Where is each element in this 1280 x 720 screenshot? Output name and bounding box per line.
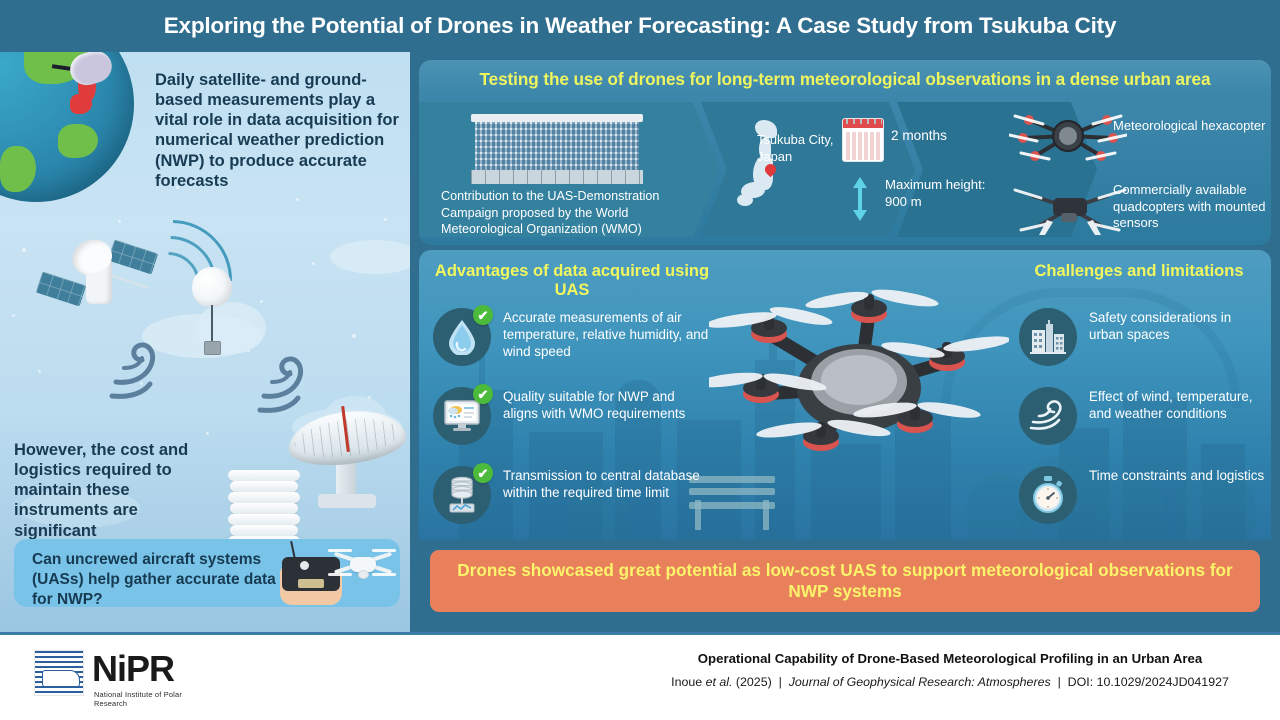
footer: NiPR National Institute of Polar Researc…	[0, 632, 1280, 720]
authors-italic: et al.	[706, 675, 733, 689]
hexacopter-icon	[1009, 106, 1127, 166]
wind-swirl-icon	[108, 334, 194, 404]
vertical-double-arrow-icon	[851, 175, 869, 223]
advantages-challenges-band: Advantages of data acquired using UAS ✔ …	[419, 250, 1271, 540]
challenges-heading: Challenges and limitations	[1019, 262, 1259, 281]
infographic-body: Daily satellite- and ground-based measur…	[0, 52, 1280, 632]
citation-separator: |	[779, 675, 782, 689]
nipr-logo-mark-icon	[34, 650, 84, 696]
doi: DOI: 10.1029/2024JD041927	[1068, 675, 1229, 689]
rc-controller-icon	[274, 543, 394, 605]
left-sky-panel: Daily satellite- and ground-based measur…	[0, 52, 410, 632]
page-title-bar: Exploring the Potential of Drones in Wea…	[0, 0, 1280, 52]
satellite-icon	[44, 228, 162, 324]
question-text: Can uncrewed aircraft systems (UASs) hel…	[32, 550, 282, 607]
right-content-panel: Testing the use of drones for long-term …	[410, 52, 1280, 632]
duration-label: 2 months	[891, 128, 947, 143]
drone-type-label: Meteorological hexacopter	[1113, 118, 1271, 135]
nipr-logo-text: NiPR	[92, 648, 174, 690]
earth-globe-icon	[0, 52, 134, 202]
check-badge-icon: ✔	[473, 384, 493, 404]
calendar-icon	[842, 118, 884, 162]
check-badge-icon: ✔	[473, 305, 493, 325]
conclusion-text: Drones showcased great potential as low-…	[430, 560, 1260, 601]
advantages-heading: Advantages of data acquired using UAS	[433, 262, 711, 301]
cloud-decor	[330, 240, 410, 274]
challenge-text: Safety considerations in urban spaces	[1089, 310, 1267, 344]
radar-dish-icon	[288, 402, 406, 522]
nipr-logo: NiPR National Institute of Polar Researc…	[34, 650, 204, 702]
max-height-label: Maximum height: 900 m	[885, 176, 995, 210]
footer-divider	[0, 632, 1280, 635]
drone-type-label: Commercially available quadcopters with …	[1113, 182, 1271, 232]
challenge-text: Time constraints and logistics	[1089, 468, 1267, 485]
contribution-text: Contribution to the UAS-Demonstration Ca…	[441, 188, 711, 238]
hexacopter-drone-illustration	[709, 270, 1009, 500]
city-buildings-icon	[1019, 308, 1077, 366]
wind-icon	[1019, 387, 1077, 445]
testing-heading: Testing the use of drones for long-term …	[419, 69, 1271, 90]
paper-title: Operational Capability of Drone-Based Me…	[640, 650, 1260, 668]
location-label: Tsukuba City, Japan	[757, 132, 847, 165]
weather-balloon-icon	[192, 267, 232, 313]
advantage-text: Transmission to central database within …	[503, 468, 713, 502]
journal-name: Journal of Geophysical Research: Atmosph…	[789, 675, 1051, 689]
advantage-text: Quality suitable for NWP and aligns with…	[503, 389, 713, 423]
page-title: Exploring the Potential of Drones in Wea…	[164, 13, 1117, 39]
citation-separator: |	[1058, 675, 1061, 689]
office-building-icon	[471, 114, 643, 186]
citation-line: Inoue et al. (2025) | Journal of Geophys…	[640, 675, 1260, 689]
intro-text: Daily satellite- and ground-based measur…	[155, 70, 401, 191]
check-badge-icon: ✔	[473, 463, 493, 483]
quadcopter-icon	[332, 545, 394, 585]
nipr-logo-subtext: National Institute of Polar Research	[94, 690, 204, 708]
citation-block: Operational Capability of Drone-Based Me…	[640, 650, 1260, 689]
stopwatch-icon	[1019, 466, 1077, 524]
advantage-text: Accurate measurements of air temperature…	[503, 310, 713, 361]
stevenson-screen-icon	[228, 470, 300, 548]
testing-overview-card: Testing the use of drones for long-term …	[419, 60, 1271, 245]
problem-text: However, the cost and logistics required…	[14, 440, 214, 541]
infographic-page: Exploring the Potential of Drones in Wea…	[0, 0, 1280, 720]
authors-plain: Inoue	[671, 675, 705, 689]
authors-year: (2025)	[732, 675, 771, 689]
conclusion-banner: Drones showcased great potential as low-…	[430, 550, 1260, 612]
challenge-text: Effect of wind, temperature, and weather…	[1089, 389, 1267, 423]
question-callout-box: Can uncrewed aircraft systems (UASs) hel…	[14, 539, 400, 607]
